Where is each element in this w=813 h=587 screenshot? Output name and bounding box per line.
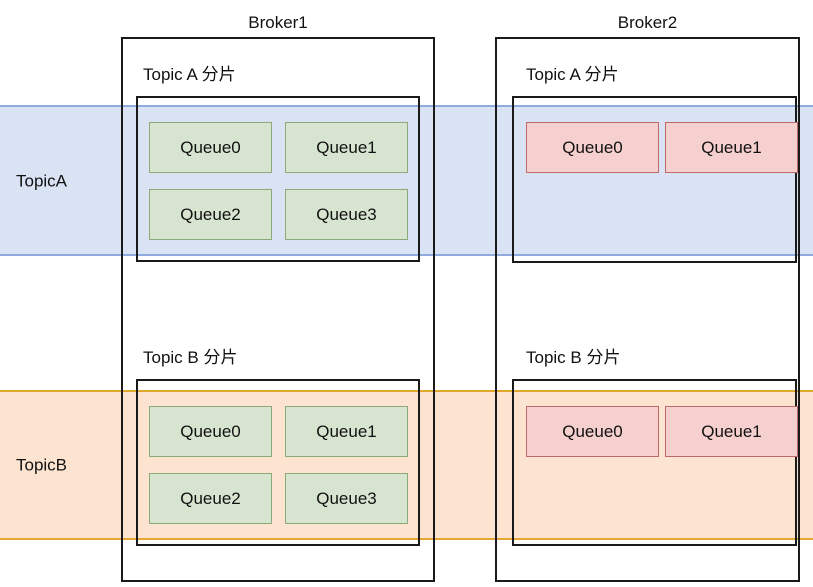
- broker-title-broker1: Broker1: [121, 14, 435, 31]
- queue-broker1-topic-a-0[interactable]: Queue0: [149, 122, 272, 173]
- queue-label: Queue2: [180, 490, 241, 507]
- queue-label: Queue0: [180, 423, 241, 440]
- queue-label: Queue2: [180, 206, 241, 223]
- queue-broker1-topic-b-3[interactable]: Queue3: [285, 473, 408, 524]
- queue-broker1-topic-b-0[interactable]: Queue0: [149, 406, 272, 457]
- queue-label: Queue1: [316, 139, 377, 156]
- queue-label: Queue1: [701, 139, 762, 156]
- shard-label-broker2-topic-b: Topic B 分片: [526, 349, 620, 366]
- queue-label: Queue1: [316, 423, 377, 440]
- queue-label: Queue1: [701, 423, 762, 440]
- queue-label: Queue3: [316, 490, 377, 507]
- queue-broker1-topic-b-1[interactable]: Queue1: [285, 406, 408, 457]
- diagram-canvas: TopicA TopicB Broker1 Topic A 分片 Queue0 …: [0, 0, 813, 587]
- queue-broker1-topic-b-2[interactable]: Queue2: [149, 473, 272, 524]
- queue-broker1-topic-a-1[interactable]: Queue1: [285, 122, 408, 173]
- queue-label: Queue3: [316, 206, 377, 223]
- queue-broker1-topic-a-2[interactable]: Queue2: [149, 189, 272, 240]
- broker-title-broker2: Broker2: [495, 14, 800, 31]
- queue-broker2-topic-b-0[interactable]: Queue0: [526, 406, 659, 457]
- topic-band-label-topic-a: TopicA: [16, 172, 67, 189]
- queue-label: Queue0: [562, 423, 623, 440]
- queue-broker2-topic-a-0[interactable]: Queue0: [526, 122, 659, 173]
- topic-band-label-topic-b: TopicB: [16, 457, 67, 474]
- queue-broker1-topic-a-3[interactable]: Queue3: [285, 189, 408, 240]
- shard-label-broker2-topic-a: Topic A 分片: [526, 66, 619, 83]
- shard-label-broker1-topic-b: Topic B 分片: [143, 349, 237, 366]
- shard-box-broker2-topic-b: [512, 379, 797, 546]
- queue-broker2-topic-b-1[interactable]: Queue1: [665, 406, 798, 457]
- queue-label: Queue0: [562, 139, 623, 156]
- shard-label-broker1-topic-a: Topic A 分片: [143, 66, 236, 83]
- queue-label: Queue0: [180, 139, 241, 156]
- queue-broker2-topic-a-1[interactable]: Queue1: [665, 122, 798, 173]
